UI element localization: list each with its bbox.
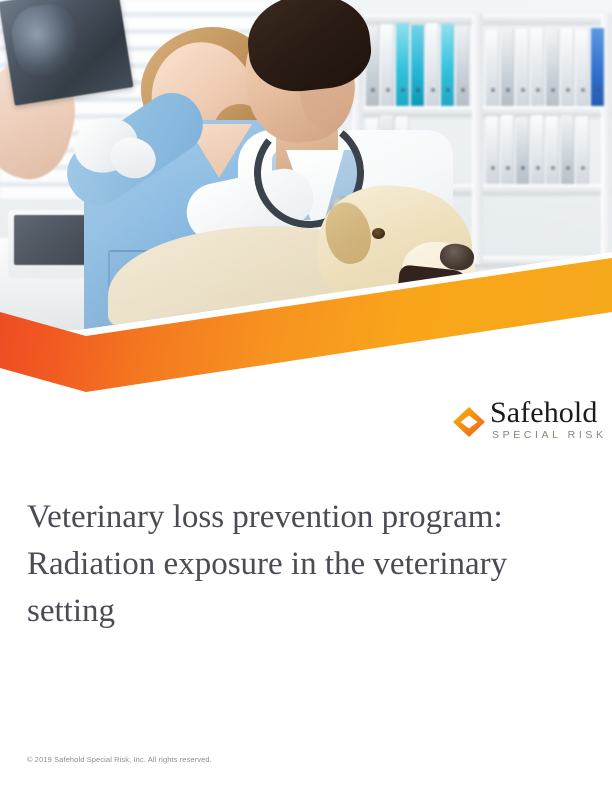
xray-film: [0, 0, 133, 106]
labrador-eye: [372, 228, 385, 239]
page-title-line-3: setting: [27, 588, 587, 635]
binder-row-middle: [486, 115, 589, 184]
copyright-notice: © 2019 Safehold Special Risk, Inc. All r…: [27, 755, 212, 764]
safehold-logo[interactable]: Safehold SPECIAL RISK: [452, 402, 592, 448]
diamond-outline-icon: [452, 406, 486, 438]
page-title-line-2: Radiation exposure in the veterinary: [27, 541, 587, 588]
page-title: Veterinary loss prevention program: Radi…: [27, 494, 587, 635]
hero-banner: [0, 0, 612, 400]
binder-row-upper: [366, 23, 469, 106]
logo-tagline: SPECIAL RISK: [492, 429, 607, 441]
binder-row-right-upper: [486, 28, 604, 106]
page-title-line-1: Veterinary loss prevention program:: [27, 494, 587, 541]
logo-wordmark: Safehold: [490, 398, 597, 428]
document-cover-page: Safehold SPECIAL RISK Veterinary loss pr…: [0, 0, 612, 792]
